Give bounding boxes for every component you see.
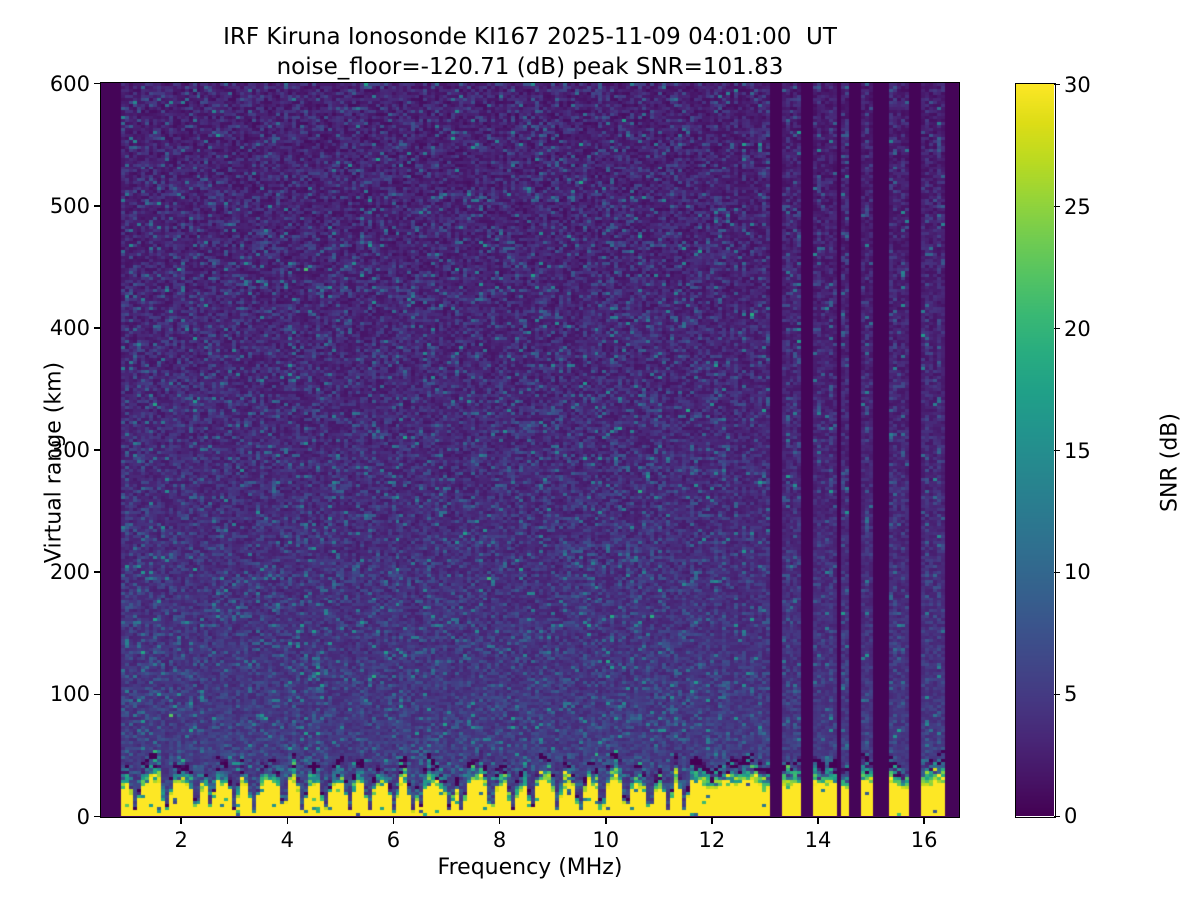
x-tick-2 xyxy=(180,818,182,824)
x-tick-label-2: 2 xyxy=(175,828,188,852)
x-tick-label-16: 16 xyxy=(911,828,938,852)
colorbar-tick-5 xyxy=(1054,694,1060,696)
colorbar-tick-0 xyxy=(1054,816,1060,818)
colorbar-label: SNR (dB) xyxy=(1158,313,1183,613)
colorbar-tick-label-20: 20 xyxy=(1064,317,1091,341)
colorbar-tick-25 xyxy=(1054,206,1060,208)
x-tick-label-12: 12 xyxy=(698,828,725,852)
y-tick-600 xyxy=(94,83,100,85)
x-tick-6 xyxy=(393,818,395,824)
y-tick-label-500: 500 xyxy=(22,194,90,218)
colorbar-tick-20 xyxy=(1054,328,1060,330)
colorbar-tick-label-5: 5 xyxy=(1064,682,1077,706)
x-tick-8 xyxy=(499,818,501,824)
y-tick-label-600: 600 xyxy=(22,72,90,96)
colorbar-tick-label-30: 30 xyxy=(1064,73,1091,97)
x-tick-16 xyxy=(923,818,925,824)
y-tick-200 xyxy=(94,571,100,573)
x-tick-label-8: 8 xyxy=(493,828,506,852)
figure-title-line-2: noise_floor=-120.71 (dB) peak SNR=101.83 xyxy=(0,52,1060,82)
y-tick-label-200: 200 xyxy=(22,560,90,584)
colorbar-tick-30 xyxy=(1054,84,1060,86)
y-tick-label-100: 100 xyxy=(22,682,90,706)
y-tick-500 xyxy=(94,205,100,207)
x-tick-12 xyxy=(711,818,713,824)
x-tick-4 xyxy=(287,818,289,824)
y-tick-0 xyxy=(94,816,100,818)
colorbar xyxy=(1015,83,1056,818)
ionogram-heatmap xyxy=(101,83,958,816)
x-tick-label-14: 14 xyxy=(805,828,832,852)
colorbar-tick-10 xyxy=(1054,572,1060,574)
y-tick-label-400: 400 xyxy=(22,316,90,340)
colorbar-tick-label-0: 0 xyxy=(1064,804,1077,828)
x-tick-label-4: 4 xyxy=(281,828,294,852)
colorbar-tick-label-25: 25 xyxy=(1064,195,1091,219)
x-tick-label-6: 6 xyxy=(387,828,400,852)
ionogram-figure: IRF Kiruna Ionosonde KI167 2025-11-09 04… xyxy=(0,0,1200,900)
x-tick-label-10: 10 xyxy=(592,828,619,852)
y-tick-300 xyxy=(94,449,100,451)
figure-title-line-1: IRF Kiruna Ionosonde KI167 2025-11-09 04… xyxy=(0,22,1060,52)
x-tick-14 xyxy=(817,818,819,824)
ionogram-plot-area xyxy=(100,82,960,818)
colorbar-gradient xyxy=(1016,84,1054,816)
x-tick-10 xyxy=(605,818,607,824)
y-tick-100 xyxy=(94,694,100,696)
y-tick-400 xyxy=(94,327,100,329)
colorbar-tick-label-15: 15 xyxy=(1064,439,1091,463)
x-axis-label: Frequency (MHz) xyxy=(100,855,960,880)
y-tick-label-0: 0 xyxy=(22,805,90,829)
colorbar-tick-label-10: 10 xyxy=(1064,560,1091,584)
colorbar-tick-15 xyxy=(1054,450,1060,452)
y-tick-label-300: 300 xyxy=(22,438,90,462)
